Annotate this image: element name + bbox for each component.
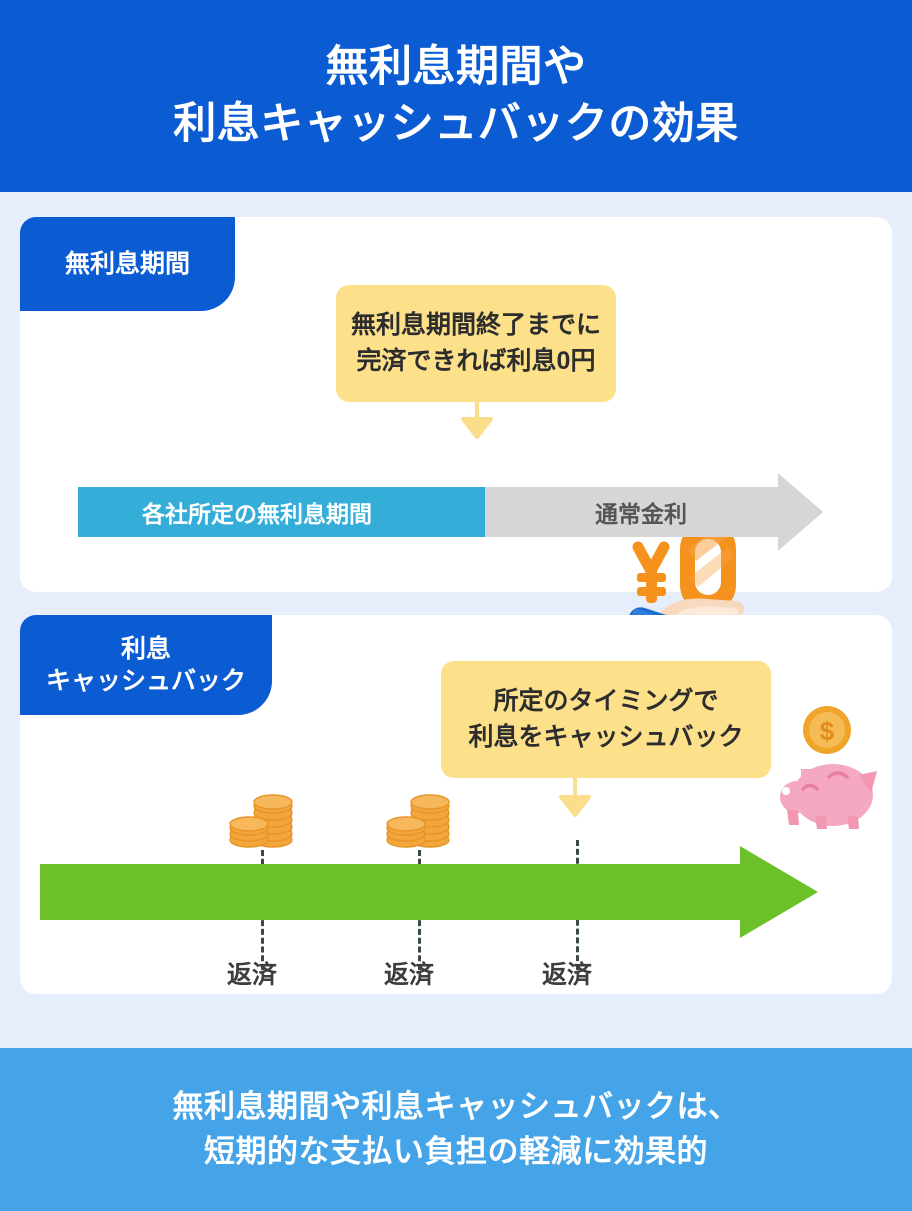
- callout-line-1: 無利息期間終了までに: [351, 308, 601, 344]
- callout-interest-free: 無利息期間終了までに 完済できれば利息0円: [336, 285, 616, 402]
- repayment-label-1: 返済: [227, 955, 277, 991]
- callout-line-2: 利息をキャッシュバック: [468, 720, 743, 756]
- svg-text:$: $: [820, 716, 835, 746]
- callout-line-1: 所定のタイミングで: [493, 684, 718, 720]
- timeline-cashback: [40, 842, 840, 942]
- section-interest-free-period: 無利息期間 無利息期間終了までに 完済できれば利息0円: [20, 217, 892, 592]
- down-arrow-icon: [553, 775, 597, 819]
- section-badge-label: 無利息期間: [65, 248, 190, 281]
- page-header: 無利息期間や 利息キャッシュバックの効果: [0, 0, 912, 192]
- sections-container: 無利息期間 無利息期間終了までに 完済できれば利息0円: [0, 217, 912, 994]
- piggy-bank-with-coin-icon: $: [775, 703, 887, 831]
- callout-line-2: 完済できれば利息0円: [357, 344, 596, 380]
- section-badge-label-line-1: 利息: [121, 633, 171, 666]
- timeline-segment-free-label: 各社所定の無利息期間: [142, 495, 372, 529]
- repayment-label-2: 返済: [384, 955, 434, 991]
- timeline-segment-normal-label: 通常金利: [595, 495, 687, 529]
- callout-cashback: 所定のタイミングで 利息をキャッシュバック: [441, 661, 771, 778]
- page-title-line-2: 利息キャッシュバックの効果: [173, 96, 739, 153]
- down-arrow-icon: [455, 397, 499, 441]
- footer-line-1: 無利息期間や利息キャッシュバックは、: [173, 1085, 740, 1130]
- footer-line-2: 短期的な支払い負担の軽減に効果的: [204, 1130, 708, 1175]
- page-footer: 無利息期間や利息キャッシュバックは、 短期的な支払い負担の軽減に効果的: [0, 1048, 912, 1211]
- section-badge-label-line-2: キャッシュバック: [46, 665, 246, 698]
- repayment-label-3: 返済: [542, 955, 592, 991]
- section-badge-cashback: 利息 キャッシュバック: [20, 615, 272, 715]
- page-title-line-1: 無利息期間や: [326, 39, 587, 96]
- section-interest-cashback: 利息 キャッシュバック 所定のタイミングで 利息をキャッシュバック: [20, 615, 892, 994]
- section-badge-interest-free: 無利息期間: [20, 217, 235, 311]
